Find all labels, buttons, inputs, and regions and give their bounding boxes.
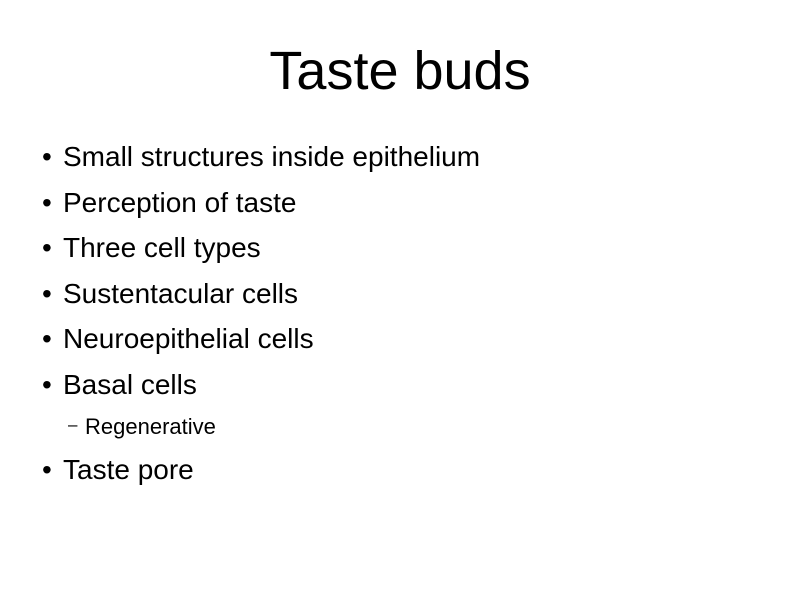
list-item: • Taste pore: [38, 447, 762, 493]
list-item-label: Taste pore: [63, 454, 194, 485]
list-item-label: Perception of taste: [63, 187, 296, 218]
list-item-label: Sustentacular cells: [63, 278, 298, 309]
sub-list-item: – Regenerative: [38, 407, 762, 447]
list-item: • Sustentacular cells: [38, 271, 762, 317]
bullet-dot-icon: •: [42, 271, 58, 317]
bullet-dot-icon: •: [42, 316, 58, 362]
slide-bullet-list: • Small structures inside epithelium • P…: [38, 134, 762, 493]
bullet-dot-icon: •: [42, 362, 58, 408]
list-item-label: Neuroepithelial cells: [63, 323, 314, 354]
list-item: • Basal cells: [38, 362, 762, 408]
bullet-dot-icon: •: [42, 225, 58, 271]
sub-list-item-label: Regenerative: [85, 414, 216, 439]
bullet-dot-icon: •: [42, 134, 58, 180]
list-item: • Perception of taste: [38, 180, 762, 226]
dash-bullet-icon: –: [68, 405, 82, 445]
list-item: • Small structures inside epithelium: [38, 134, 762, 180]
presentation-slide: Taste buds • Small structures inside epi…: [0, 0, 800, 600]
list-item-label: Three cell types: [63, 232, 261, 263]
list-item-label: Basal cells: [63, 369, 197, 400]
list-item: • Neuroepithelial cells: [38, 316, 762, 362]
bullet-dot-icon: •: [42, 447, 58, 493]
bullet-dot-icon: •: [42, 180, 58, 226]
page-title: Taste buds: [0, 40, 800, 102]
list-item-label: Small structures inside epithelium: [63, 141, 480, 172]
list-item: • Three cell types: [38, 225, 762, 271]
